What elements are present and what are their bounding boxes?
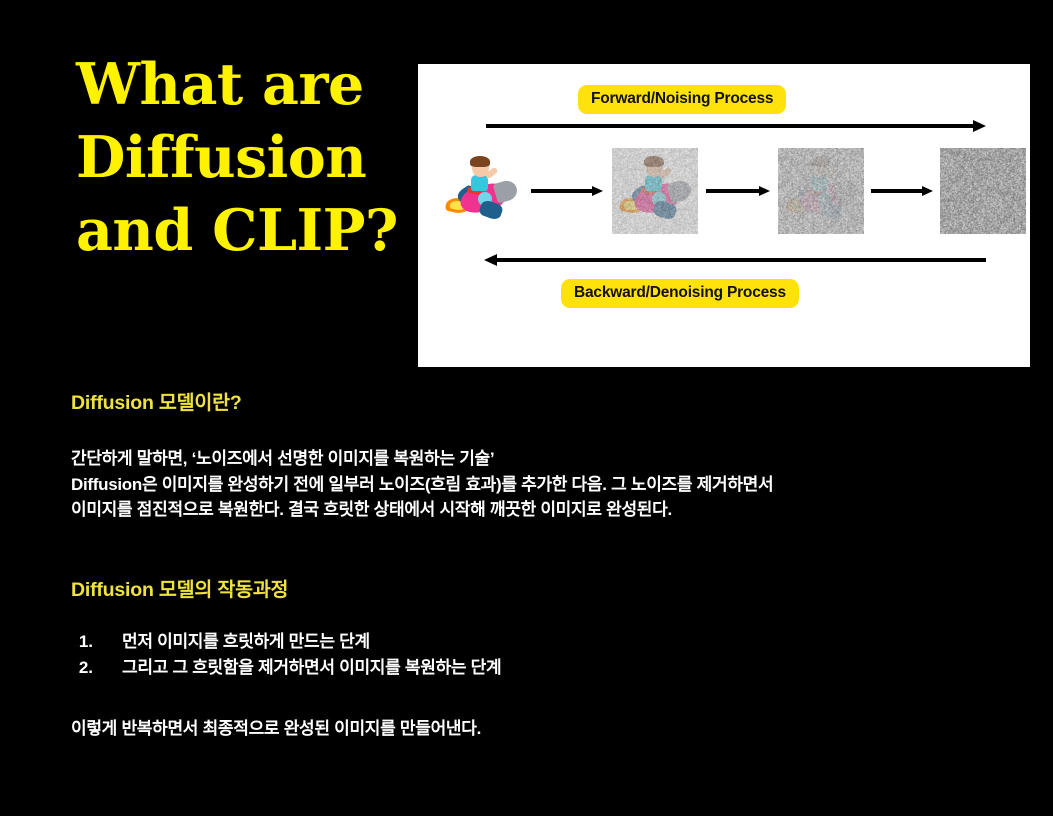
slide-canvas: What are Diffusion and CLIP? Forward/Noi… xyxy=(0,0,1053,816)
process-step-list: 1. 먼저 이미지를 흐릿하게 만드는 단계 2. 그리고 그 흐릿함을 제거하… xyxy=(71,629,871,681)
closing-paragraph: 이렇게 반복하면서 최종적으로 완성된 이미지를 만들어낸다. xyxy=(71,716,481,742)
list-item-label: 그리고 그 흐릿함을 제거하면서 이미지를 복원하는 단계 xyxy=(122,655,501,681)
noise-overlay-3 xyxy=(940,148,1026,234)
title-line-2: Diffusion xyxy=(76,121,416,194)
title-line-3: and CLIP? xyxy=(76,194,416,267)
diagram-step-image-0 xyxy=(438,148,524,234)
noise-overlay-2 xyxy=(778,148,864,234)
backward-arrow-icon xyxy=(484,254,986,266)
forward-arrow-icon xyxy=(486,120,986,132)
backward-process-badge: Backward/Denoising Process xyxy=(561,279,799,308)
list-item: 2. 그리고 그 흐릿함을 제거하면서 이미지를 복원하는 단계 xyxy=(71,655,871,681)
step-arrow-icon-1 xyxy=(706,186,770,196)
list-item: 1. 먼저 이미지를 흐릿하게 만드는 단계 xyxy=(71,629,871,655)
paragraph-1-line-3: 이미지를 점진적으로 복원한다. 결국 흐릿한 상태에서 시작해 깨끗한 이미지… xyxy=(71,497,1016,523)
diagram-step-image-3 xyxy=(940,148,1026,234)
step-arrow-icon-0 xyxy=(531,186,603,196)
list-item-label: 먼저 이미지를 흐릿하게 만드는 단계 xyxy=(122,629,370,655)
section-heading-1: Diffusion 모델이란? xyxy=(71,386,242,415)
paragraph-1-line-1: 간단하게 말하면, ‘노이즈에서 선명한 이미지를 복원하는 기술’ xyxy=(71,446,1016,472)
diffusion-process-diagram: Forward/Noising Process xyxy=(418,64,1030,367)
page-title: What are Diffusion and CLIP? xyxy=(76,48,416,267)
step-arrow-icon-2 xyxy=(871,186,933,196)
diagram-step-image-1 xyxy=(612,148,698,234)
list-item-number: 1. xyxy=(71,629,93,655)
list-item-number: 2. xyxy=(71,655,93,681)
diagram-step-image-2 xyxy=(778,148,864,234)
title-line-1: What are xyxy=(76,48,416,121)
paragraph-1-line-2: Diffusion은 이미지를 완성하기 전에 일부러 노이즈(흐림 효과)를 … xyxy=(71,472,1016,498)
forward-process-badge: Forward/Noising Process xyxy=(578,85,786,114)
noise-overlay-1 xyxy=(612,148,698,234)
section-heading-2: Diffusion 모델의 작동과정 xyxy=(71,573,288,602)
paragraph-1: 간단하게 말하면, ‘노이즈에서 선명한 이미지를 복원하는 기술’ Diffu… xyxy=(71,446,1016,523)
